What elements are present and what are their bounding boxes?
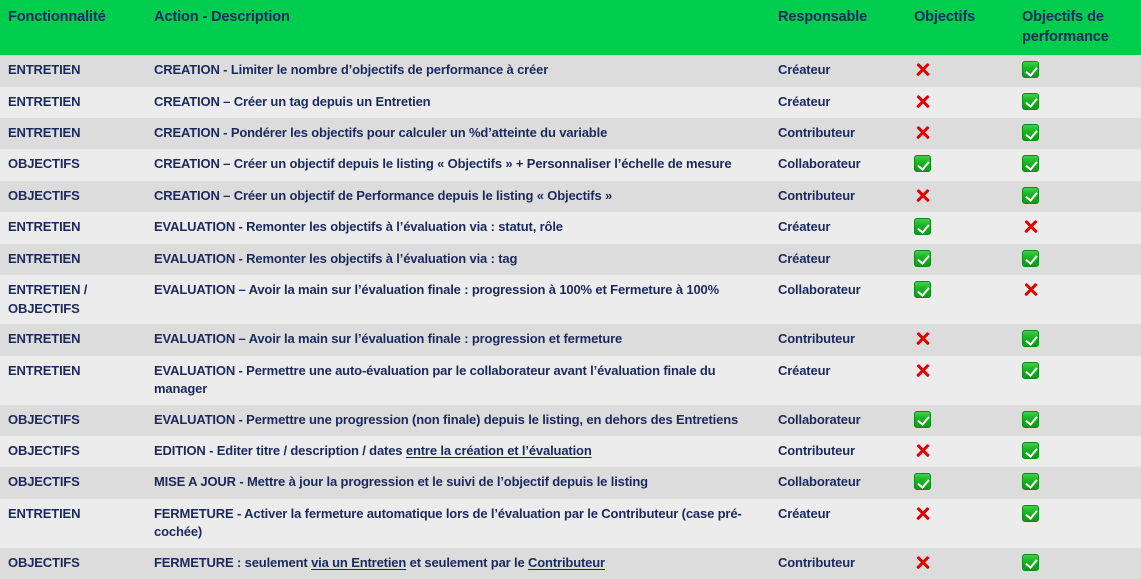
cross-icon [1022, 281, 1039, 298]
cell-objectifs-status [914, 324, 1022, 355]
cell-functionality: OBJECTIFS [0, 181, 154, 212]
table-row: OBJECTIFSEVALUATION - Permettre une prog… [0, 405, 1141, 436]
cell-action-description: EVALUATION - Permettre une progression (… [154, 405, 778, 436]
feature-matrix-table: Fonctionnalité Action - Description Resp… [0, 0, 1141, 560]
cell-objectifs-performance-status [1022, 499, 1141, 548]
cell-action-description: MISE A JOUR - Mettre à jour la progressi… [154, 467, 778, 498]
cell-objectifs-status [914, 405, 1022, 436]
cell-objectifs-status [914, 87, 1022, 118]
table-row: ENTRETIENCREATION - Limiter le nombre d’… [0, 55, 1141, 86]
cell-responsable: Contributeur [778, 181, 914, 212]
cell-responsable: Créateur [778, 244, 914, 275]
cell-functionality: OBJECTIFS [0, 405, 154, 436]
table-header: Fonctionnalité Action - Description Resp… [0, 0, 1141, 55]
cell-action-description: CREATION – Créer un objectif depuis le l… [154, 149, 778, 180]
cell-objectifs-performance-status [1022, 436, 1141, 467]
column-header-objectifs-performance: Objectifs de performance [1022, 0, 1141, 55]
cell-responsable: Collaborateur [778, 149, 914, 180]
cell-action-description: EVALUATION - Permettre une auto-évaluati… [154, 356, 778, 405]
cross-icon [914, 330, 931, 347]
cell-action-description: EVALUATION - Remonter les objectifs à l’… [154, 212, 778, 243]
cell-functionality: ENTRETIEN [0, 87, 154, 118]
cell-action-description: CREATION - Pondérer les objectifs pour c… [154, 118, 778, 149]
check-icon [914, 473, 931, 490]
cell-objectifs-status [914, 181, 1022, 212]
table-row: ENTRETIENCREATION – Créer un tag depuis … [0, 87, 1141, 118]
action-text: CREATION – Créer un objectif de Performa… [154, 188, 612, 203]
action-text: EVALUATION – Avoir la main sur l’évaluat… [154, 331, 622, 346]
cell-responsable: Créateur [778, 212, 914, 243]
cell-functionality: OBJECTIFS [0, 548, 154, 579]
cell-functionality: ENTRETIEN [0, 118, 154, 149]
action-text-continued: et seulement par le [406, 555, 528, 570]
cross-icon [1022, 218, 1039, 235]
check-icon [1022, 473, 1039, 490]
cross-icon [914, 362, 931, 379]
cell-functionality: ENTRETIEN [0, 324, 154, 355]
cell-responsable: Collaborateur [778, 405, 914, 436]
action-text: CREATION – Créer un objectif depuis le l… [154, 156, 731, 171]
table-row: ENTRETIEN / OBJECTIFSEVALUATION – Avoir … [0, 275, 1141, 324]
cross-icon [914, 442, 931, 459]
check-icon [1022, 61, 1039, 78]
cross-icon [914, 554, 931, 571]
table-row: ENTRETIENEVALUATION - Remonter les objec… [0, 212, 1141, 243]
action-text: EVALUATION - Remonter les objectifs à l’… [154, 219, 563, 234]
check-icon [914, 281, 931, 298]
cell-objectifs-performance-status [1022, 275, 1141, 324]
table-row: OBJECTIFSCREATION – Créer un objectif de… [0, 149, 1141, 180]
check-icon [1022, 250, 1039, 267]
cell-objectifs-status [914, 548, 1022, 579]
check-icon [1022, 362, 1039, 379]
table-row: ENTRETIENCREATION - Pondérer les objecti… [0, 118, 1141, 149]
cell-functionality: OBJECTIFS [0, 436, 154, 467]
table-row: ENTRETIENEVALUATION - Remonter les objec… [0, 244, 1141, 275]
header-row: Fonctionnalité Action - Description Resp… [0, 0, 1141, 55]
check-icon [914, 155, 931, 172]
cell-objectifs-status [914, 356, 1022, 405]
cell-responsable: Créateur [778, 356, 914, 405]
cell-action-description: FERMETURE - Activer la fermeture automat… [154, 499, 778, 548]
check-icon [1022, 155, 1039, 172]
table-row: OBJECTIFSFERMETURE : seulement via un En… [0, 548, 1141, 579]
cell-responsable: Contributeur [778, 436, 914, 467]
cell-objectifs-performance-status [1022, 149, 1141, 180]
action-text: CREATION – Créer un tag depuis un Entret… [154, 94, 430, 109]
action-text: EVALUATION - Permettre une progression (… [154, 412, 738, 427]
table-row: OBJECTIFSEDITION - Editer titre / descri… [0, 436, 1141, 467]
check-icon [1022, 442, 1039, 459]
cross-icon [914, 124, 931, 141]
cell-functionality: ENTRETIEN [0, 499, 154, 548]
action-text: FERMETURE - Activer la fermeture automat… [154, 506, 742, 539]
cross-icon [914, 505, 931, 522]
cell-responsable: Contributeur [778, 118, 914, 149]
cell-action-description: CREATION - Limiter le nombre d’objectifs… [154, 55, 778, 86]
check-icon [914, 250, 931, 267]
table-body: ENTRETIENCREATION - Limiter le nombre d’… [0, 55, 1141, 579]
cell-objectifs-performance-status [1022, 324, 1141, 355]
table: Fonctionnalité Action - Description Resp… [0, 0, 1141, 579]
column-header-responsable: Responsable [778, 0, 914, 55]
cell-responsable: Collaborateur [778, 275, 914, 324]
cell-objectifs-performance-status [1022, 181, 1141, 212]
action-text: CREATION - Pondérer les objectifs pour c… [154, 125, 607, 140]
check-icon [1022, 330, 1039, 347]
action-text-underlined: via un Entretien [311, 555, 406, 570]
cell-objectifs-status [914, 244, 1022, 275]
cell-functionality: OBJECTIFS [0, 149, 154, 180]
cell-action-description: EVALUATION – Avoir la main sur l’évaluat… [154, 324, 778, 355]
action-text: EVALUATION - Remonter les objectifs à l’… [154, 251, 517, 266]
check-icon [1022, 411, 1039, 428]
cell-action-description: CREATION – Créer un objectif de Performa… [154, 181, 778, 212]
cross-icon [914, 61, 931, 78]
cell-action-description: FERMETURE : seulement via un Entretien e… [154, 548, 778, 579]
cell-action-description: CREATION – Créer un tag depuis un Entret… [154, 87, 778, 118]
check-icon [914, 218, 931, 235]
action-text: FERMETURE : seulement [154, 555, 311, 570]
action-text: EDITION - Editer titre / description / d… [154, 443, 406, 458]
table-row: ENTRETIENFERMETURE - Activer la fermetur… [0, 499, 1141, 548]
cell-objectifs-status [914, 118, 1022, 149]
cell-objectifs-status [914, 149, 1022, 180]
cross-icon [914, 187, 931, 204]
column-header-objectifs: Objectifs [914, 0, 1022, 55]
cell-functionality: ENTRETIEN [0, 55, 154, 86]
table-row: ENTRETIENEVALUATION – Avoir la main sur … [0, 324, 1141, 355]
cell-objectifs-performance-status [1022, 55, 1141, 86]
check-icon [914, 411, 931, 428]
cell-functionality: ENTRETIEN [0, 212, 154, 243]
cell-responsable: Collaborateur [778, 467, 914, 498]
cell-objectifs-performance-status [1022, 548, 1141, 579]
cell-action-description: EDITION - Editer titre / description / d… [154, 436, 778, 467]
cell-action-description: EVALUATION – Avoir la main sur l’évaluat… [154, 275, 778, 324]
check-icon [1022, 93, 1039, 110]
cell-objectifs-status [914, 55, 1022, 86]
action-text: EVALUATION – Avoir la main sur l’évaluat… [154, 282, 719, 297]
action-text: MISE A JOUR - Mettre à jour la progressi… [154, 474, 648, 489]
cell-responsable: Créateur [778, 499, 914, 548]
cell-objectifs-status [914, 499, 1022, 548]
cell-responsable: Contributeur [778, 548, 914, 579]
cell-action-description: EVALUATION - Remonter les objectifs à l’… [154, 244, 778, 275]
cell-objectifs-status [914, 467, 1022, 498]
check-icon [1022, 505, 1039, 522]
table-row: ENTRETIENEVALUATION - Permettre une auto… [0, 356, 1141, 405]
action-text-underlined-2: Contributeur [528, 555, 605, 570]
cell-responsable: Créateur [778, 87, 914, 118]
cell-objectifs-performance-status [1022, 212, 1141, 243]
cell-objectifs-performance-status [1022, 118, 1141, 149]
cell-functionality: ENTRETIEN [0, 356, 154, 405]
column-header-functionality: Fonctionnalité [0, 0, 154, 55]
table-row: OBJECTIFSCREATION – Créer un objectif de… [0, 181, 1141, 212]
cell-responsable: Contributeur [778, 324, 914, 355]
cell-objectifs-performance-status [1022, 467, 1141, 498]
check-icon [1022, 124, 1039, 141]
cell-objectifs-performance-status [1022, 405, 1141, 436]
cell-functionality: ENTRETIEN [0, 244, 154, 275]
action-text-underlined: entre la création et l’évaluation [406, 443, 592, 458]
cross-icon [914, 93, 931, 110]
cell-responsable: Créateur [778, 55, 914, 86]
check-icon [1022, 187, 1039, 204]
cell-objectifs-performance-status [1022, 244, 1141, 275]
action-text: CREATION - Limiter le nombre d’objectifs… [154, 62, 548, 77]
cell-objectifs-performance-status [1022, 87, 1141, 118]
table-row: OBJECTIFSMISE A JOUR - Mettre à jour la … [0, 467, 1141, 498]
cell-functionality: OBJECTIFS [0, 467, 154, 498]
check-icon [1022, 554, 1039, 571]
column-header-action: Action - Description [154, 0, 778, 55]
cell-objectifs-status [914, 212, 1022, 243]
cell-objectifs-performance-status [1022, 356, 1141, 405]
action-text: EVALUATION - Permettre une auto-évaluati… [154, 363, 715, 396]
cell-objectifs-status [914, 275, 1022, 324]
cell-objectifs-status [914, 436, 1022, 467]
cell-functionality: ENTRETIEN / OBJECTIFS [0, 275, 154, 324]
